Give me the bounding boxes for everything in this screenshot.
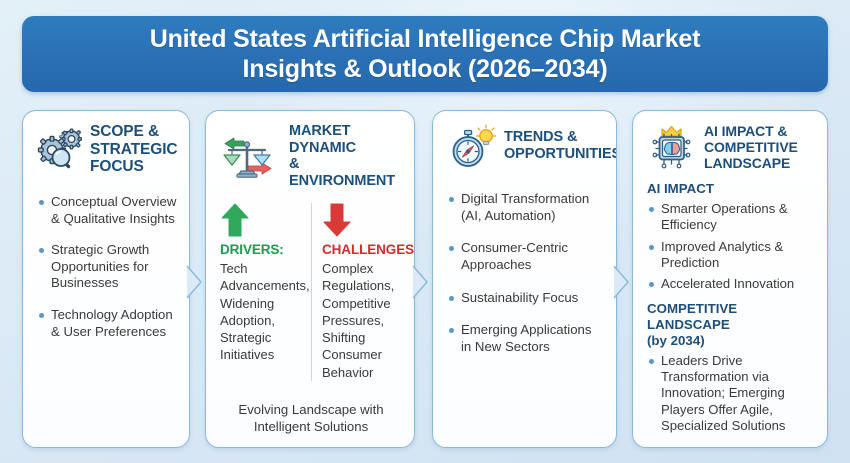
card-title: MARKET DYNAMIC & ENVIRONMENT — [289, 123, 402, 189]
card-header: MARKET DYNAMIC & ENVIRONMENT — [220, 123, 402, 189]
list-item: Improved Analytics & Prediction — [647, 239, 815, 272]
list-item: Strategic Growth Opportunities for Busin… — [37, 242, 177, 292]
card-header: SCOPE & STRATEGIC FOCUS — [37, 123, 177, 176]
list-item: Leaders Drive Transformation via Innovat… — [647, 353, 815, 435]
card-ai-impact-competitive-landscape[interactable]: AI IMPACT & COMPETITIVE LANDSCAPE AI IMP… — [632, 110, 828, 448]
list-item: Sustainability Focus — [447, 290, 604, 307]
list-item: Accelerated Innovation — [647, 276, 815, 292]
competitive-landscape-bullet-list: Leaders Drive Transformation via Innovat… — [647, 353, 815, 435]
card-title: SCOPE & STRATEGIC FOCUS — [90, 123, 178, 176]
card-market-dynamic-environment[interactable]: MARKET DYNAMIC & ENVIRONMENT DRIVERS: Te… — [205, 110, 415, 448]
challenges-body: Complex Regulations, Competitive Pressur… — [322, 260, 402, 381]
list-item: Technology Adoption & User Preferences — [37, 307, 177, 340]
arrow-up-icon — [220, 203, 304, 237]
title-banner: United States Artificial Intelligence Ch… — [22, 16, 828, 92]
card-title: AI IMPACT & COMPETITIVE LANDSCAPE — [704, 124, 798, 172]
list-item: Emerging Applications in New Sectors — [447, 322, 604, 355]
list-item: Smarter Operations & Efficiency — [647, 201, 815, 234]
market-drivers-column: DRIVERS: Tech Advancements, Widening Ado… — [220, 203, 311, 381]
infographic-root: United States Artificial Intelligence Ch… — [0, 0, 850, 463]
market-challenges-column: CHALLENGES: Complex Regulations, Competi… — [311, 203, 402, 381]
arrow-down-icon — [322, 203, 402, 237]
page-title: United States Artificial Intelligence Ch… — [150, 24, 701, 85]
list-item: Consumer-Centric Approaches — [447, 240, 604, 273]
gears-magnifier-icon — [37, 128, 83, 170]
chevron-right-icon-1 — [186, 265, 203, 299]
card-trends-opportunities[interactable]: TRENDS & OPPORTUNITIES Digital Transform… — [432, 110, 617, 448]
card-header: TRENDS & OPPORTUNITIES — [447, 123, 604, 169]
trends-bullet-list: Digital Transformation (AI, Automation) … — [447, 191, 604, 355]
scope-bullet-list: Conceptual Overview & Qualitative Insigh… — [37, 194, 177, 340]
chip-brain-crown-icon — [647, 123, 697, 173]
ai-impact-heading: AI IMPACT — [647, 181, 815, 197]
list-item: Conceptual Overview & Qualitative Insigh… — [37, 194, 177, 227]
balance-scale-arrows-icon — [220, 133, 282, 179]
market-footer-text: Evolving Landscape with Intelligent Solu… — [220, 401, 402, 435]
card-title: TRENDS & OPPORTUNITIES — [504, 129, 617, 162]
chevron-right-icon-3 — [613, 265, 630, 299]
market-columns: DRIVERS: Tech Advancements, Widening Ado… — [220, 203, 402, 381]
card-header: AI IMPACT & COMPETITIVE LANDSCAPE — [647, 123, 815, 173]
challenges-label: CHALLENGES: — [322, 242, 402, 257]
ai-impact-bullet-list: Smarter Operations & Efficiency Improved… — [647, 201, 815, 293]
list-item: Digital Transformation (AI, Automation) — [447, 191, 604, 224]
drivers-label: DRIVERS: — [220, 242, 304, 257]
card-scope-strategic-focus[interactable]: SCOPE & STRATEGIC FOCUS Conceptual Overv… — [22, 110, 190, 448]
drivers-body: Tech Advancements, Widening Adoption, St… — [220, 260, 304, 364]
compass-lightbulb-icon — [447, 123, 497, 169]
competitive-landscape-heading: COMPETITIVE LANDSCAPE (by 2034) — [647, 301, 815, 349]
chevron-right-icon-2 — [412, 265, 429, 299]
